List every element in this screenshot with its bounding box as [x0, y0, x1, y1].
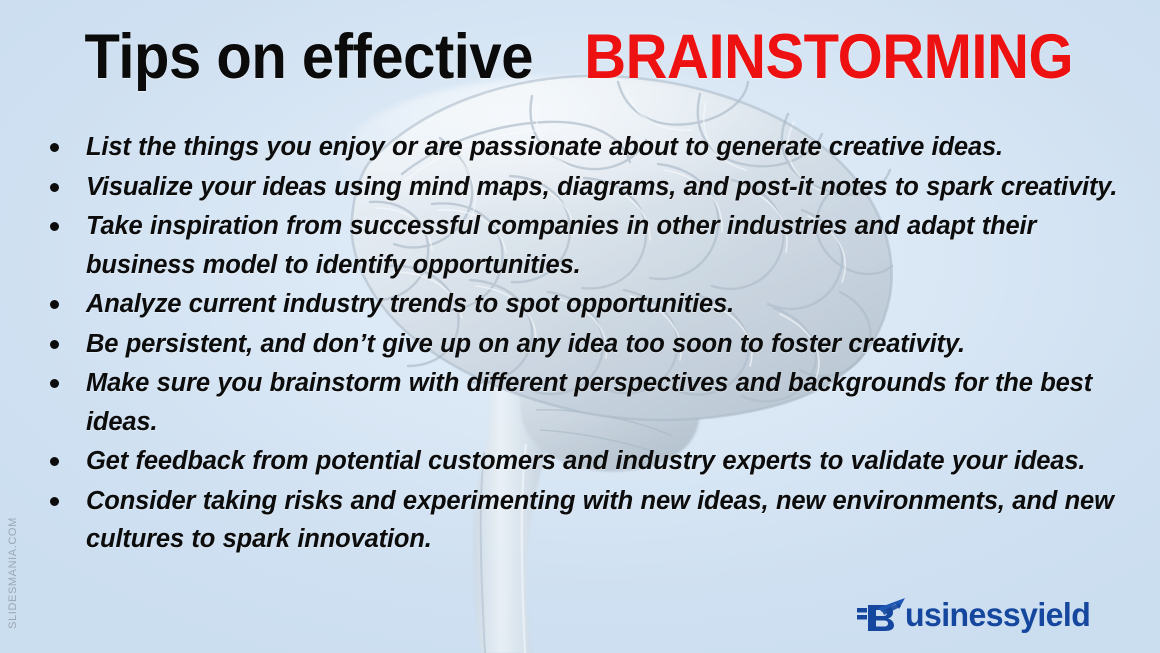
list-item: Make sure you brainstorm with different …	[36, 364, 1136, 441]
list-item: Consider taking risks and experimenting …	[36, 482, 1136, 559]
list-item-label: Visualize your ideas using mind maps, di…	[86, 173, 1117, 201]
list-item-label: Analyze current industry trends to spot …	[86, 290, 734, 318]
page-title: Tips on effective BRAINSTORMING	[0, 26, 1160, 89]
bullet-icon	[50, 143, 59, 152]
list-item-label: Make sure you brainstorm with different …	[86, 369, 1092, 436]
list-item: Analyze current industry trends to spot …	[36, 285, 1136, 324]
list-item-label: Consider taking risks and experimenting …	[86, 487, 1114, 554]
bullet-icon	[50, 300, 59, 309]
bullet-icon	[50, 183, 59, 192]
list-item-label: Get feedback from potential customers an…	[86, 447, 1085, 475]
businessyield-logo[interactable]: usinessyield	[856, 592, 1096, 636]
list-item: Be persistent, and don’t give up on any …	[36, 325, 1136, 364]
list-item-label: List the things you enjoy or are passion…	[86, 133, 1003, 161]
slide-canvas: Tips on effective BRAINSTORMING List the…	[0, 0, 1160, 653]
bullet-icon	[50, 222, 59, 231]
list-item: Take inspiration from successful compani…	[36, 207, 1136, 284]
businessyield-b-arrow-logo	[856, 597, 908, 631]
list-item-label: Take inspiration from successful compani…	[86, 212, 1036, 279]
title-plain-text: Tips on effective	[85, 26, 533, 89]
list-item: Visualize your ideas using mind maps, di…	[36, 168, 1136, 207]
tips-list: List the things you enjoy or are passion…	[36, 128, 1136, 560]
bullet-icon	[50, 497, 59, 506]
bullet-icon	[50, 457, 59, 466]
slidesmania-watermark: SLIDESMANIA.COM	[7, 513, 19, 633]
bullet-icon	[50, 340, 59, 349]
logo-wordmark: usinessyield	[905, 598, 1090, 631]
title-accent-text: BRAINSTORMING	[585, 26, 1074, 89]
list-item-label: Be persistent, and don’t give up on any …	[86, 330, 965, 358]
list-item: List the things you enjoy or are passion…	[36, 128, 1136, 167]
bullet-icon	[50, 379, 59, 388]
list-item: Get feedback from potential customers an…	[36, 442, 1136, 481]
